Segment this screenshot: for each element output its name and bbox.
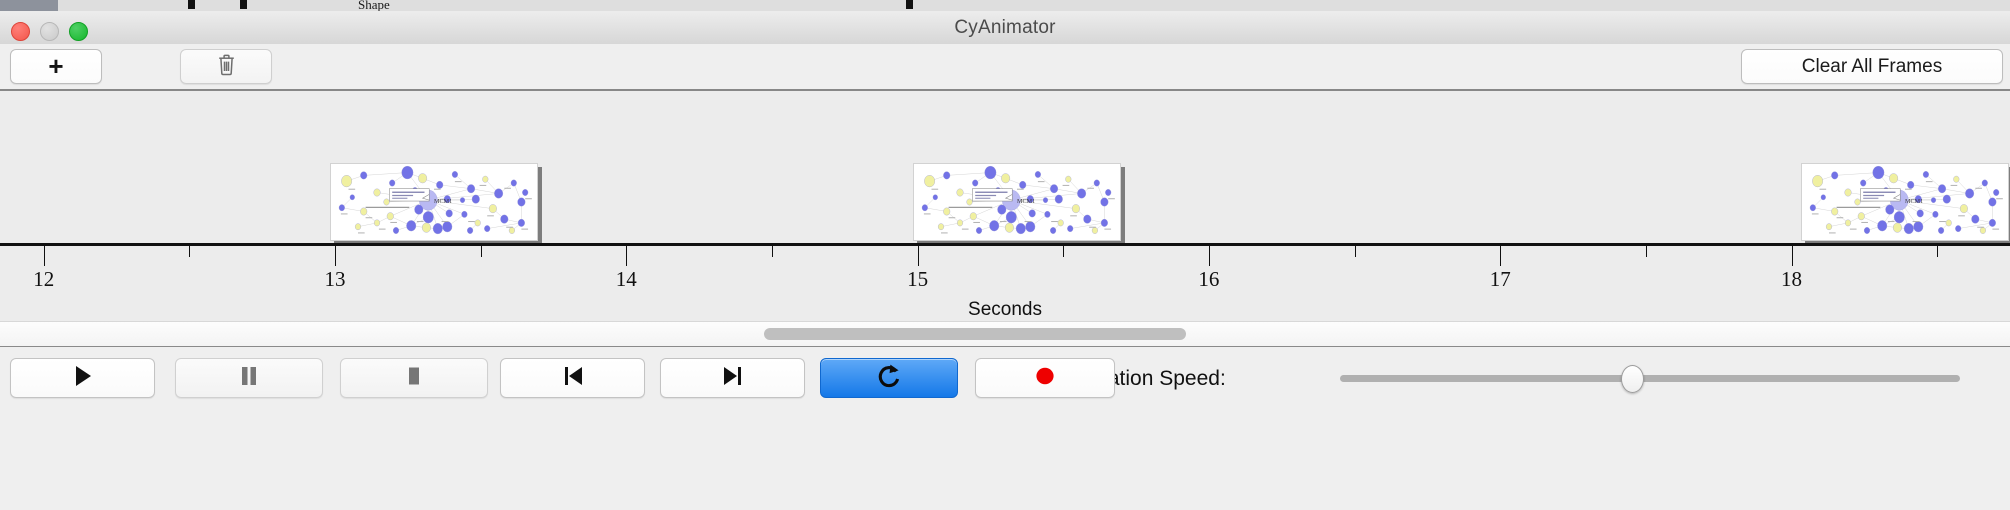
frame-toolbar: + Clear All Frames: [0, 44, 2010, 91]
skip-to-start-button[interactable]: [500, 358, 645, 398]
ruler-tick-label: 13: [325, 267, 346, 292]
ruler-tick-label: 15: [907, 267, 928, 292]
clear-all-frames-button[interactable]: Clear All Frames: [1741, 49, 2003, 84]
ruler-tick-label: 18: [1781, 267, 1802, 292]
background-glyph: [188, 0, 195, 9]
ruler-tick-label: 14: [616, 267, 637, 292]
background-window-tab-label: Shape: [358, 0, 390, 11]
ruler-major-tick: [1792, 246, 1793, 266]
timeline-ruler: Seconds 12131415161718: [0, 243, 2010, 321]
ruler-baseline: [0, 243, 2010, 246]
background-glyph: [240, 0, 247, 9]
loop-icon: [877, 363, 901, 394]
background-toolbar-segment: [386, 0, 827, 11]
ruler-major-tick: [1209, 246, 1210, 266]
ruler-axis-label: Seconds: [0, 299, 2010, 321]
ruler-minor-tick: [1063, 246, 1064, 257]
svg-text:MCM1: MCM1: [434, 199, 452, 205]
timeline-scrollbar[interactable]: [0, 321, 2010, 348]
ruler-minor-tick: [772, 246, 773, 257]
ruler-tick-label: 12: [33, 267, 54, 292]
ruler-major-tick: [626, 246, 627, 266]
play-icon: [72, 364, 94, 393]
thumbnail-network-graph: MCM1: [913, 163, 1121, 241]
ruler-minor-tick: [481, 246, 482, 257]
plus-icon: +: [48, 53, 63, 79]
animation-speed-slider-knob[interactable]: [1621, 365, 1644, 393]
record-icon: [1033, 364, 1057, 393]
animation-speed-slider[interactable]: [1340, 375, 1960, 382]
thumbnail-network-graph: MCM1: [330, 163, 538, 241]
cyanimator-window: Shape CyAnimator +: [0, 0, 2010, 510]
ruler-minor-tick: [189, 246, 190, 257]
trash-icon: [217, 53, 236, 81]
pause-icon: [239, 364, 259, 393]
stop-icon: [404, 364, 424, 393]
ruler-minor-tick: [1937, 246, 1938, 257]
skip-forward-icon: [721, 364, 745, 393]
background-toolbar-segment: [148, 0, 187, 11]
skip-back-icon: [561, 364, 585, 393]
ruler-major-tick: [335, 246, 336, 266]
loop-button[interactable]: [820, 358, 958, 398]
scrollbar-thumb[interactable]: [764, 328, 1186, 340]
background-toolbar-segment: [826, 0, 957, 11]
background-window-dark-header: [0, 0, 58, 11]
ruler-major-tick: [1500, 246, 1501, 266]
add-frame-button[interactable]: +: [10, 49, 102, 84]
skip-to-end-button[interactable]: [660, 358, 805, 398]
svg-text:MCM1: MCM1: [1017, 199, 1035, 205]
clear-all-frames-label: Clear All Frames: [1802, 56, 1942, 78]
title-bar[interactable]: CyAnimator: [0, 11, 2010, 45]
pause-button[interactable]: [175, 358, 323, 398]
delete-frame-button[interactable]: [180, 49, 272, 84]
ruler-tick-label: 17: [1490, 267, 1511, 292]
background-toolbar-segment: [242, 0, 301, 11]
ruler-major-tick: [44, 246, 45, 266]
window-title: CyAnimator: [0, 11, 2010, 44]
background-glyph: [906, 0, 913, 9]
background-toolbar-segment: [1886, 0, 2010, 11]
stop-button[interactable]: [340, 358, 488, 398]
ruler-tick-label: 16: [1198, 267, 1219, 292]
timeline-frame-thumbnail[interactable]: MCM1: [913, 163, 1121, 243]
background-toolbar-segment: [956, 0, 1827, 11]
svg-text:MCM1: MCM1: [1905, 199, 1923, 205]
background-toolbar-segment: [1826, 0, 1887, 11]
ruler-minor-tick: [1355, 246, 1356, 257]
background-window-strip: Shape: [0, 0, 2010, 11]
play-button[interactable]: [10, 358, 155, 398]
timeline-frame-thumbnail[interactable]: MCM1: [330, 163, 538, 243]
thumbnail-network-graph: MCM1: [1801, 163, 2009, 241]
timeline-frame-thumbnail[interactable]: MCM1: [1801, 163, 2009, 243]
playback-control-bar: Animation Speed:: [0, 347, 2010, 510]
background-toolbar-segment: [58, 0, 149, 11]
ruler-minor-tick: [1646, 246, 1647, 257]
record-button[interactable]: [975, 358, 1115, 398]
timeline-canvas[interactable]: MCM1MCM1MCM1: [0, 91, 2010, 243]
ruler-major-tick: [918, 246, 919, 266]
